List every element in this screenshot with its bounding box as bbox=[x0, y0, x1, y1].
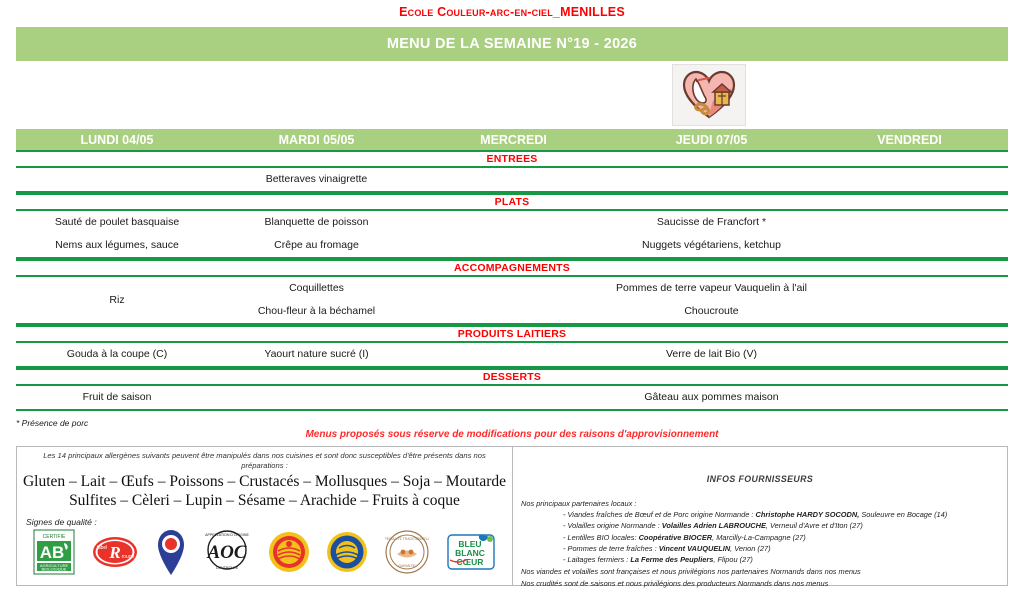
menu-cell: Fruit de saison bbox=[16, 386, 218, 409]
section-body-produits-laitiers: Gouda à la coupe (C) Yaourt nature sucré… bbox=[16, 343, 1008, 368]
allergens-panel: Les 14 principaux allergènes suivants pe… bbox=[17, 447, 513, 585]
menu-cell bbox=[218, 386, 415, 409]
menu-cell: Sauté de poulet basquaise Nems aux légum… bbox=[16, 211, 218, 257]
menu-cell bbox=[811, 211, 1008, 257]
menu-item: Coquillettes bbox=[218, 277, 415, 300]
menu-item: Fruit de saison bbox=[16, 386, 218, 409]
menu-cell: Blanquette de poisson Crêpe au fromage bbox=[218, 211, 415, 257]
day-header-vendredi: VENDREDI bbox=[811, 133, 1008, 147]
menu-cell bbox=[612, 168, 811, 191]
menu-item: Verre de lait Bio (V) bbox=[612, 343, 811, 366]
aoc-logo: AOC APPELLATION D'ORIGINE CONTROLEE bbox=[203, 529, 251, 580]
menu-item: Choucroute bbox=[612, 300, 811, 323]
suppliers-title: INFOS FOURNISSEURS bbox=[513, 447, 1007, 484]
supplier-suffix: , Verneuil d'Avre et d'Iton (27) bbox=[766, 521, 863, 530]
allergens-line-1: Gluten – Lait – Œufs – Poissons – Crusta… bbox=[17, 472, 512, 491]
day-header-jeudi: JEUDI 07/05 bbox=[612, 133, 811, 147]
svg-text:SPECIALITE TRADITIONNELLE: SPECIALITE TRADITIONNELLE bbox=[385, 537, 429, 541]
menu-cell bbox=[415, 168, 612, 191]
supplier-item: - Pommes de terre fraîches : Vincent VAU… bbox=[519, 543, 1001, 554]
supplier-name: Coopérative BIOCER bbox=[639, 533, 713, 542]
section-header-produits-laitiers: PRODUITS LAITIERS bbox=[16, 325, 1008, 343]
quality-signs-label: Signes de qualité : bbox=[17, 510, 512, 527]
suppliers-panel: INFOS FOURNISSEURS Nos principaux parten… bbox=[513, 447, 1007, 585]
supplier-prefix: - Lentilles BIO locales: bbox=[563, 533, 639, 542]
menu-cell: Yaourt nature sucré (I) bbox=[218, 343, 415, 366]
menu-item: Crêpe au fromage bbox=[218, 234, 415, 257]
menu-item: Riz bbox=[16, 289, 218, 312]
supplier-name: Volailles Adrien LABROUCHE bbox=[662, 521, 766, 530]
menu-cell: Pommes de terre vapeur Vauquelin à l'ail… bbox=[612, 277, 811, 323]
menu-cell bbox=[415, 277, 612, 323]
days-header: LUNDI 04/05 MARDI 05/05 MERCREDI JEUDI 0… bbox=[16, 129, 1008, 150]
svg-text:AB: AB bbox=[40, 543, 65, 562]
menu-cell bbox=[415, 343, 612, 366]
svg-text:BIOLOGIQUE: BIOLOGIQUE bbox=[42, 566, 67, 571]
day-header-lundi: LUNDI 04/05 bbox=[16, 133, 218, 147]
svg-text:APPELLATION D'ORIGINE: APPELLATION D'ORIGINE bbox=[205, 533, 249, 537]
week-banner: MENU DE LA SEMAINE N°19 - 2026 bbox=[16, 27, 1008, 61]
svg-text:GARANTIE: GARANTIE bbox=[398, 564, 416, 568]
menu-item: Gâteau aux pommes maison bbox=[612, 386, 811, 409]
bleu-blanc-coeur-logo: BLEU BLANC CŒUR bbox=[446, 530, 496, 579]
suppliers-list: Nos principaux partenaires locaux : - Vi… bbox=[513, 484, 1007, 590]
suppliers-note-2: Nos crudités sont de saisons et nous pri… bbox=[519, 577, 1001, 589]
supplier-name: Vincent VAUQUELIN bbox=[659, 544, 730, 553]
svg-text:rouge: rouge bbox=[122, 554, 135, 560]
allergens-line-2: Sulfites – Cèleri – Lupin – Sésame – Ara… bbox=[17, 491, 512, 510]
svg-text:CERTIFIE: CERTIFIE bbox=[43, 534, 66, 540]
menu-cell bbox=[415, 386, 612, 409]
supplier-prefix: - Viandes fraîches de Bœuf et de Porc or… bbox=[563, 510, 756, 519]
menu-item: Saucisse de Francfort * bbox=[612, 211, 811, 234]
svg-text:CONTROLEE: CONTROLEE bbox=[216, 566, 239, 570]
menu-item: Gouda à la coupe (C) bbox=[16, 343, 218, 366]
menu-item: Betteraves vinaigrette bbox=[218, 168, 415, 191]
svg-text:label: label bbox=[97, 545, 108, 551]
menu-cell bbox=[16, 168, 218, 191]
section-body-accompagnements: Riz Coquillettes Chou-fleur à la béchame… bbox=[16, 277, 1008, 325]
ab-agriculture-biologique-logo: CERTIFIE AB AGRICULTURE BIOLOGIQUE bbox=[33, 529, 75, 580]
menu-item: Blanquette de poisson bbox=[218, 211, 415, 234]
quality-logos: CERTIFIE AB AGRICULTURE BIOLOGIQUE R lab… bbox=[17, 527, 512, 585]
day-header-mercredi: MERCREDI bbox=[415, 133, 612, 147]
aop-logo bbox=[268, 531, 310, 578]
menu-cell: Saucisse de Francfort * Nuggets végétari… bbox=[612, 211, 811, 257]
menu-item: Yaourt nature sucré (I) bbox=[218, 343, 415, 366]
menu-cell: Gâteau aux pommes maison bbox=[612, 386, 811, 409]
supplier-item: - Laitages fermiers : La Ferme des Peupl… bbox=[519, 554, 1001, 565]
section-header-entrees: ENTREES bbox=[16, 150, 1008, 168]
supplier-suffix: , Flipou (27) bbox=[713, 555, 752, 564]
menu-cell bbox=[415, 211, 612, 257]
menu-item: Pommes de terre vapeur Vauquelin à l'ail bbox=[612, 277, 811, 300]
stg-logo: SPECIALITE TRADITIONNELLE GARANTIE bbox=[385, 530, 429, 579]
section-body-desserts: Fruit de saison Gâteau aux pommes maison bbox=[16, 386, 1008, 411]
menu-item: Chou-fleur à la béchamel bbox=[218, 300, 415, 323]
supplier-item: - Lentilles BIO locales: Coopérative BIO… bbox=[519, 532, 1001, 543]
menu-cell bbox=[811, 168, 1008, 191]
section-body-plats: Sauté de poulet basquaise Nems aux légum… bbox=[16, 211, 1008, 259]
section-body-entrees: Betteraves vinaigrette bbox=[16, 168, 1008, 193]
menu-table: ENTREES Betteraves vinaigrette PLATS Sau… bbox=[16, 150, 1008, 411]
supplier-name: Christophe HARDY SOCODN, bbox=[756, 510, 860, 519]
label-rouge-logo: R label rouge bbox=[92, 533, 138, 576]
menu-cell bbox=[811, 343, 1008, 366]
section-header-accompagnements: ACCOMPAGNEMENTS bbox=[16, 259, 1008, 277]
menu-item: Nuggets végétariens, ketchup bbox=[612, 234, 811, 257]
menu-item: Nems aux légumes, sauce bbox=[16, 234, 218, 257]
menu-cell: Riz bbox=[16, 277, 218, 323]
supplier-item: - Viandes fraîches de Bœuf et de Porc or… bbox=[519, 509, 1001, 520]
page-title: Ecole Couleur-arc-en-ciel_MENILLES bbox=[0, 0, 1024, 24]
menu-cell: Betteraves vinaigrette bbox=[218, 168, 415, 191]
supplier-prefix: - Volailles origine Normande : bbox=[563, 521, 662, 530]
section-header-plats: PLATS bbox=[16, 193, 1008, 211]
produit-en-normandie-pin-logo bbox=[155, 528, 187, 581]
suppliers-note-1: Nos viandes et volailles sont françaises… bbox=[519, 565, 1001, 577]
svg-text:R: R bbox=[108, 543, 120, 562]
supplier-suffix: , Venon (27) bbox=[730, 544, 770, 553]
note-reserve: Menus proposés sous réserve de modificat… bbox=[16, 429, 1008, 440]
menu-cell bbox=[811, 277, 1008, 323]
day-header-mardi: MARDI 05/05 bbox=[218, 133, 415, 147]
menu-cell: Gouda à la coupe (C) bbox=[16, 343, 218, 366]
igp-logo bbox=[326, 531, 368, 578]
svg-text:AOC: AOC bbox=[207, 542, 247, 563]
supplier-item: - Volailles origine Normande : Volailles… bbox=[519, 520, 1001, 531]
footnotes: * Présence de porc Menus proposés sous r… bbox=[16, 418, 1008, 444]
section-header-desserts: DESSERTS bbox=[16, 368, 1008, 386]
menu-cell: Coquillettes Chou-fleur à la béchamel bbox=[218, 277, 415, 323]
supplier-suffix: Souleuvre en Bocage (14) bbox=[859, 510, 947, 519]
menu-cell: Verre de lait Bio (V) bbox=[612, 343, 811, 366]
allergens-intro: Les 14 principaux allergènes suivants pe… bbox=[17, 447, 512, 472]
supplier-name: La Ferme des Peupliers bbox=[630, 555, 713, 564]
alsace-heart-stork-icon bbox=[672, 64, 746, 126]
supplier-suffix: , Marcilly-La-Campagne (27) bbox=[712, 533, 806, 542]
note-pork: * Présence de porc bbox=[16, 418, 88, 428]
supplier-prefix: - Laitages fermiers : bbox=[563, 555, 630, 564]
menu-item: Sauté de poulet basquaise bbox=[16, 211, 218, 234]
bottom-info-panels: Les 14 principaux allergènes suivants pe… bbox=[16, 446, 1008, 586]
menu-cell bbox=[811, 386, 1008, 409]
supplier-prefix: - Pommes de terre fraîches : bbox=[563, 544, 659, 553]
suppliers-intro: Nos principaux partenaires locaux : bbox=[519, 498, 1001, 509]
decoration-row bbox=[16, 61, 1008, 129]
